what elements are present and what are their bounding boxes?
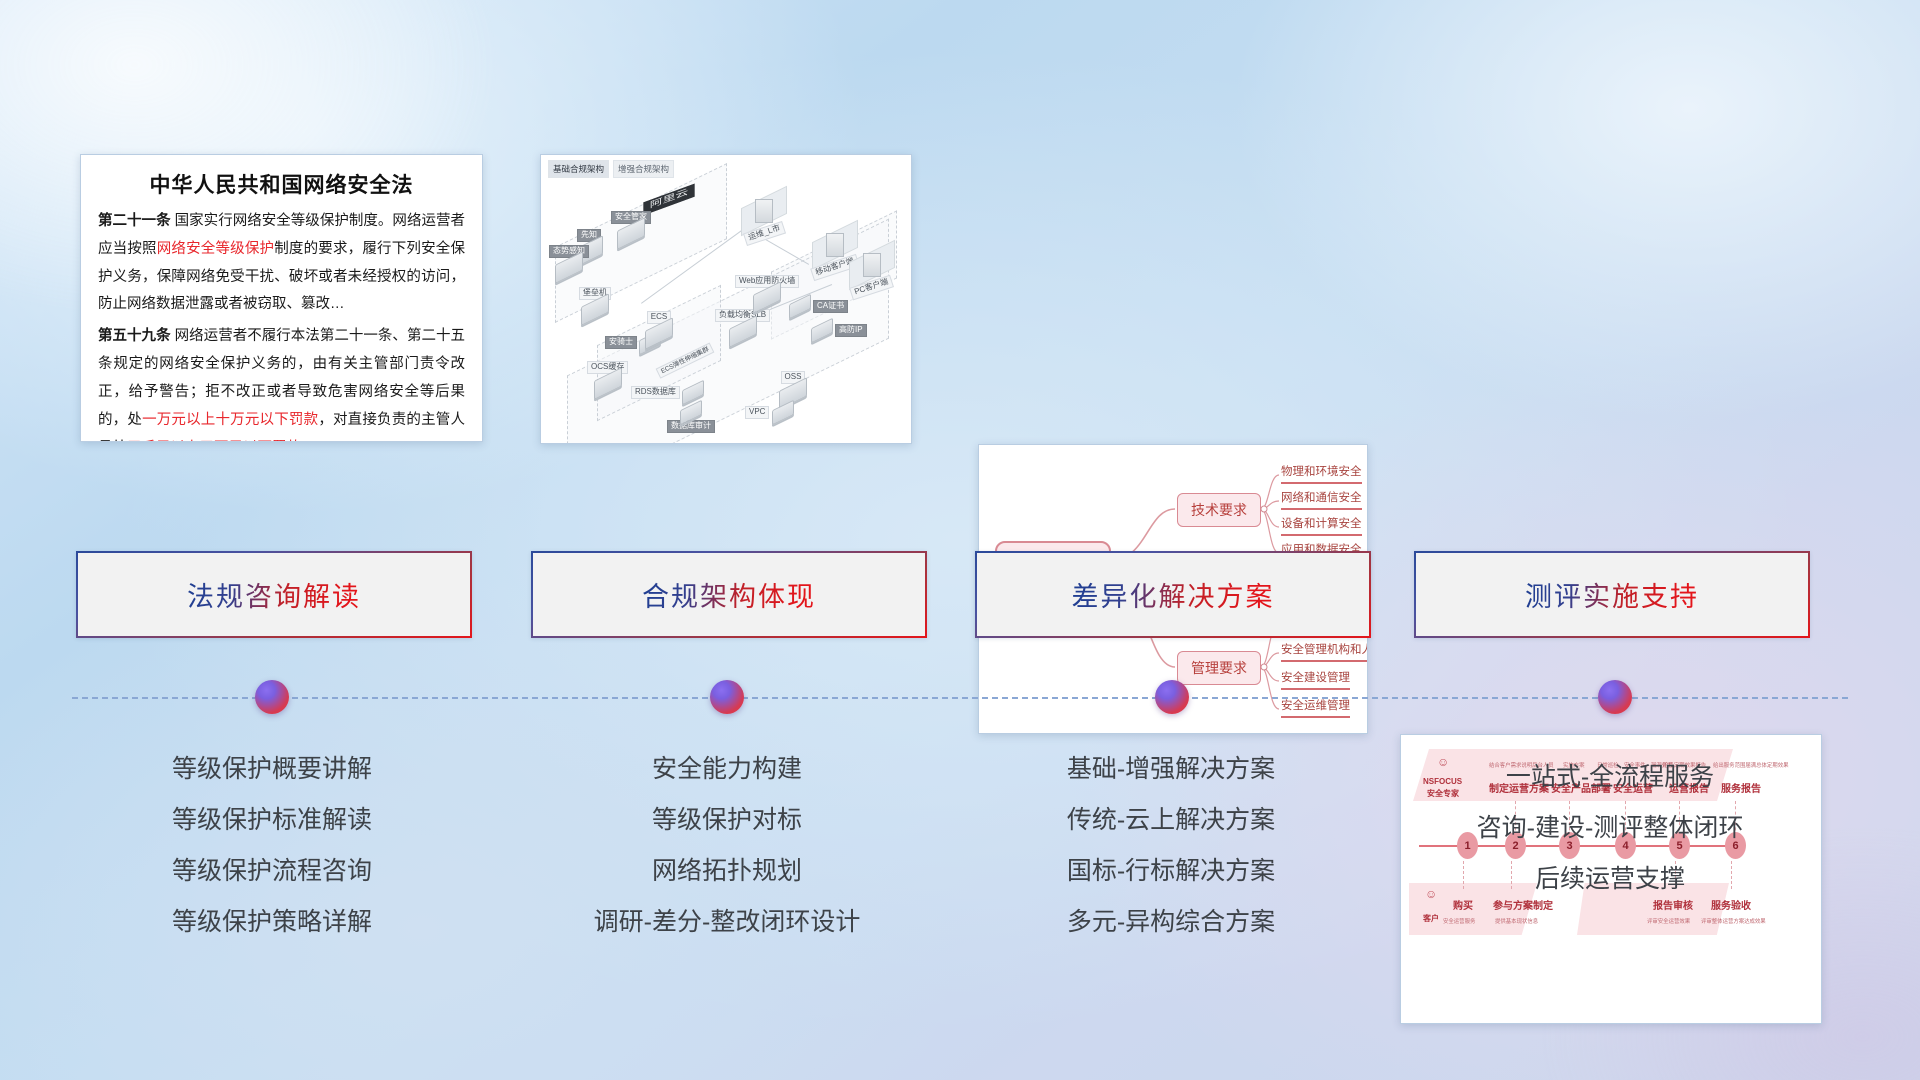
node-ocs-cache: OCS缓存 (587, 361, 628, 393)
architecture-tabs: 基础合规架构 增强合规架构 (548, 160, 674, 178)
mindmap-leaf-physical-env: 物理和环境安全 (1281, 463, 1362, 484)
node-ocs-cache-label: OCS缓存 (587, 361, 628, 374)
pillar-box-2[interactable]: 合规架构体现 (531, 551, 927, 638)
timeline-dot-4[interactable] (1598, 680, 1632, 714)
pillar-list-3: 基础-增强解决方案 传统-云上解决方案 国标-行标解决方案 多元-异构综合方案 (975, 744, 1367, 948)
node-rds: RDS数据库 (631, 385, 704, 400)
law-article-59-label: 第五十九条 (98, 328, 171, 344)
node-ca-cert: CA证书 (789, 299, 848, 314)
mindmap-leaf-construction: 安全建设管理 (1281, 669, 1350, 690)
list-item: 咨询-建设-测评整体闭环 (1414, 803, 1806, 854)
card-cybersecurity-law: 中华人民共和国网络安全法 第二十一条 国家实行网络安全等级保护制度。网络运营者应… (80, 154, 483, 442)
timeline-dot-3[interactable] (1155, 680, 1189, 714)
node-db-audit: 数据库审计 (667, 405, 715, 433)
node-security-butler: 安全管家 (611, 211, 651, 243)
node-bastion-host: 堡垒机 (579, 287, 611, 319)
list-item: 后续运营支撑 (1414, 854, 1806, 905)
node-vpc: VPC (745, 405, 794, 420)
node-pc-client: PC客户端 (849, 251, 895, 294)
roadmap-bottom-sub-1: 安全运营服务 (1443, 917, 1475, 925)
law-article-59-highlight-1: 一万元以上十万元以下罚款 (142, 412, 318, 428)
law-article-21-highlight: 网络安全等级保护 (157, 241, 275, 257)
pillar-list-4: 一站式-全流程服务 咨询-建设-测评整体闭环 后续运营支撑 (1414, 752, 1806, 905)
node-anti-ddos-ip-label: 高防IP (835, 324, 867, 337)
mindmap-leaf-operations: 安全运维管理 (1281, 697, 1350, 718)
pillar-title-1: 法规咨询解读 (187, 575, 361, 614)
list-item: 等级保护标准解读 (76, 795, 468, 846)
law-article-59-highlight-2: 五千元以上五万元以下罚款。 (127, 440, 316, 442)
list-item: 多元-异构综合方案 (975, 897, 1367, 948)
slide-stage: 中华人民共和国网络安全法 第二十一条 国家实行网络安全等级保护制度。网络运营者应… (0, 0, 1920, 1080)
node-ops-terminal: 运维_L市 (741, 197, 787, 240)
timeline-line (72, 697, 1848, 699)
node-ca-cert-label: CA证书 (813, 300, 848, 313)
list-item: 等级保护流程咨询 (76, 846, 468, 897)
node-ecs: ECS (645, 311, 673, 343)
list-item: 网络拓扑规划 (531, 846, 923, 897)
node-waf-label: Web应用防火墙 (735, 275, 799, 288)
node-anti-ddos-ip: 高防IP (811, 323, 867, 338)
node-situation-awareness: 态势感知 (549, 245, 589, 277)
node-ops-terminal-icon (755, 199, 773, 223)
node-oss: OSS (779, 371, 807, 403)
list-item: 国标-行标解决方案 (975, 846, 1367, 897)
roadmap-bottom-sub-4: 评审整体运营方案达成效果 (1701, 917, 1766, 925)
pillar-title-2: 合规架构体现 (642, 575, 816, 614)
node-security-butler-label: 安全管家 (611, 211, 651, 224)
architecture-tab-enhanced[interactable]: 增强合规架构 (613, 160, 674, 178)
list-item: 基础-增强解决方案 (975, 744, 1367, 795)
node-mobile-client-icon (826, 233, 844, 257)
card-compliance-architecture: 基础合规架构 增强合规架构 阿里云 安全管家 先知 (540, 154, 912, 444)
pillar-list-1: 等级保护概要讲解 等级保护标准解读 等级保护流程咨询 等级保护策略详解 (76, 744, 468, 948)
node-slb: 负载均衡SLB (715, 309, 770, 341)
timeline-dot-1[interactable] (255, 680, 289, 714)
mindmap-leaf-network-comm: 网络和通信安全 (1281, 489, 1362, 510)
list-item: 安全能力构建 (531, 744, 923, 795)
pillar-box-1[interactable]: 法规咨询解读 (76, 551, 472, 638)
pillar-title-4: 测评实施支持 (1525, 575, 1699, 614)
node-pc-client-icon (863, 253, 881, 277)
law-article-21-label: 第二十一条 (98, 213, 171, 229)
law-title: 中华人民共和国网络安全法 (98, 169, 465, 199)
roadmap-bottom-sub-2: 提供基本现状信息 (1495, 917, 1538, 925)
timeline-dot-2[interactable] (710, 680, 744, 714)
pillar-box-3[interactable]: 差异化解决方案 (975, 551, 1371, 638)
list-item: 调研-差分-整改闭环设计 (531, 897, 923, 948)
node-slb-label: 负载均衡SLB (715, 309, 770, 322)
architecture-tab-basic[interactable]: 基础合规架构 (548, 160, 609, 178)
list-item: 等级保护概要讲解 (76, 744, 468, 795)
node-situation-awareness-label: 态势感知 (549, 245, 589, 258)
list-item: 一站式-全流程服务 (1414, 752, 1806, 803)
mindmap-leaf-device-compute: 设备和计算安全 (1281, 515, 1362, 536)
pillar-title-3: 差异化解决方案 (1072, 575, 1275, 614)
list-item: 等级保护对标 (531, 795, 923, 846)
list-item: 传统-云上解决方案 (975, 795, 1367, 846)
node-anqishi-label: 安骑士 (605, 336, 637, 349)
node-rds-label: RDS数据库 (631, 386, 680, 399)
law-article-59: 第五十九条 网络运营者不履行本法第二十一条、第二十五条规定的网络安全保护义务的，… (98, 323, 465, 442)
mindmap-leaf-org-personnel: 安全管理机构和人员 (1281, 641, 1368, 662)
node-vpc-label: VPC (745, 406, 769, 419)
mindmap-branch-management: 管理要求 (1177, 651, 1261, 685)
node-vpc-icon (772, 400, 794, 426)
node-db-audit-label: 数据库审计 (667, 420, 715, 433)
law-article-21: 第二十一条 国家实行网络安全等级保护制度。网络运营者应当按照网络安全等级保护制度… (98, 208, 465, 319)
customer-role-label: 客户 (1423, 913, 1439, 924)
mindmap-branch-technical: 技术要求 (1177, 493, 1261, 527)
roadmap-bottom-sub-3: 评审安全运营效果 (1647, 917, 1690, 925)
pillar-list-2: 安全能力构建 等级保护对标 网络拓扑规划 调研-差分-整改闭环设计 (531, 744, 923, 948)
architecture-canvas: 阿里云 安全管家 先知 态势感知 堡垒机 安骑士 (549, 171, 903, 435)
list-item: 等级保护策略详解 (76, 897, 468, 948)
pillar-box-4[interactable]: 测评实施支持 (1414, 551, 1810, 638)
